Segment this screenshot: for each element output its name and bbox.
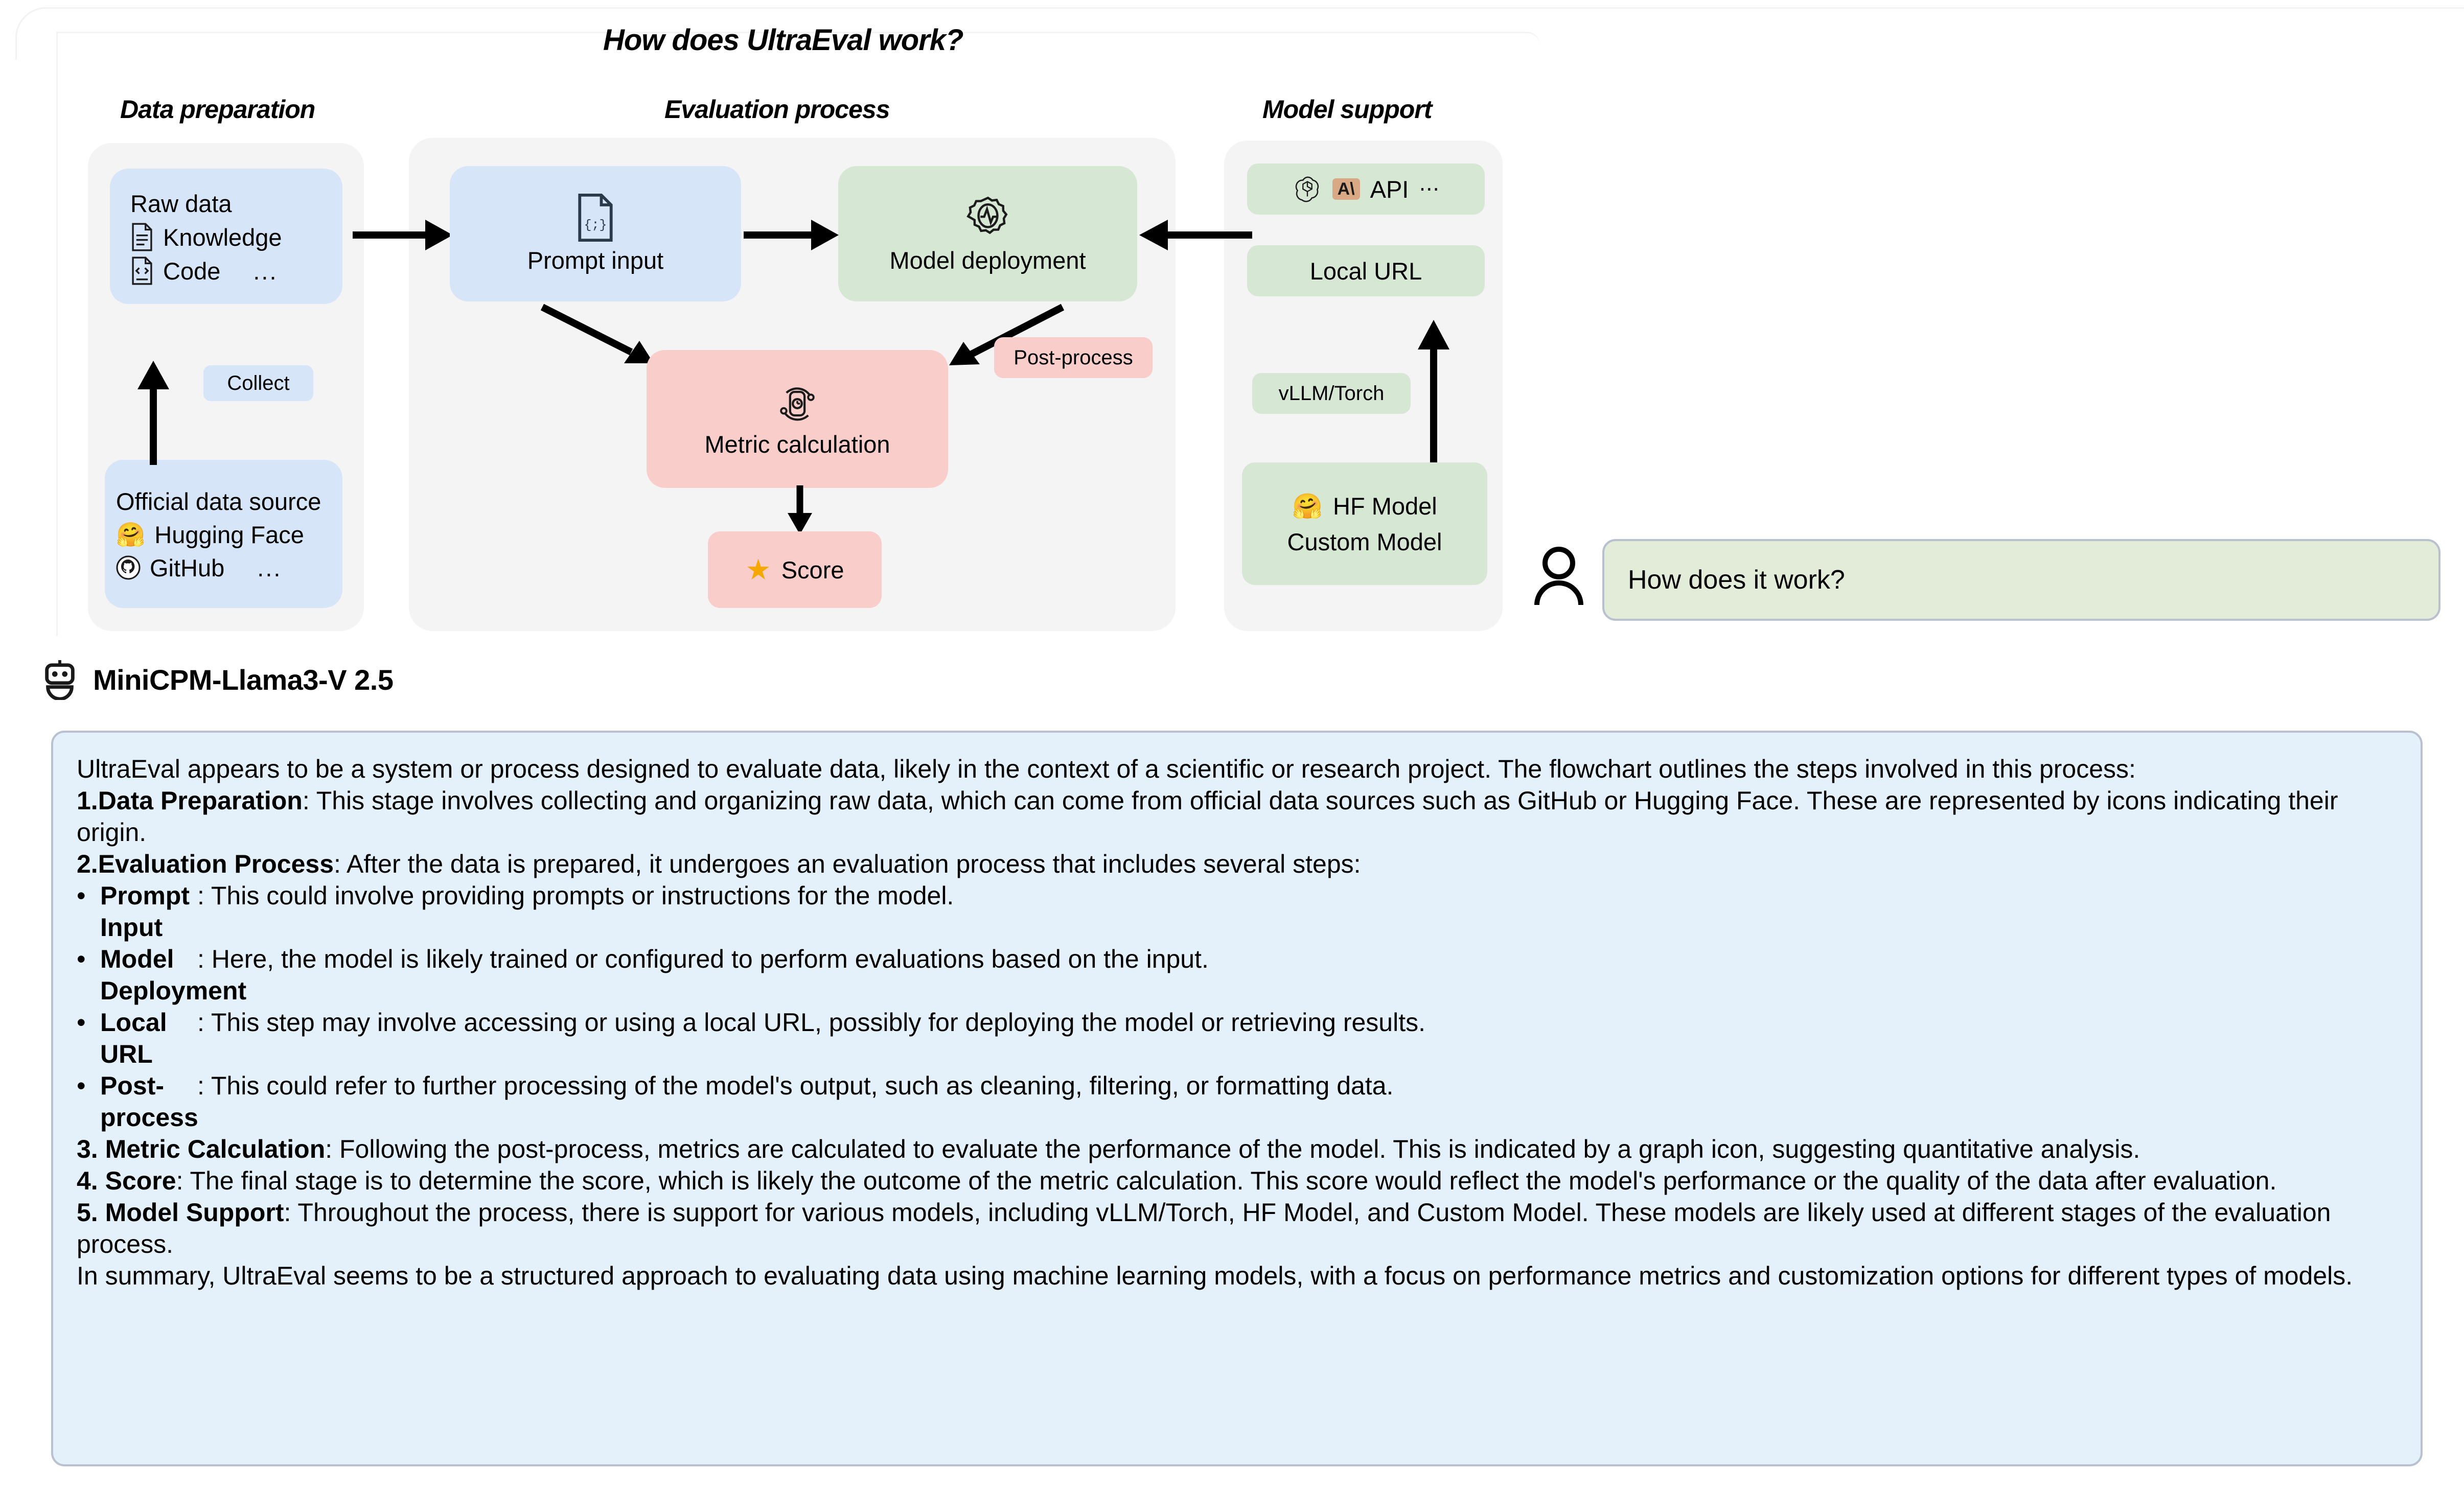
answer-bullet: •Prompt Input: This could involve provid… bbox=[77, 880, 2397, 943]
local-url-label: Local URL bbox=[1310, 257, 1422, 285]
section-label-model-support: Model support bbox=[1262, 95, 1432, 124]
edge-label-collect: Collect bbox=[203, 365, 313, 401]
hf-model-label: HF Model bbox=[1333, 492, 1437, 520]
node-hf-custom-model: 🤗 HF Model Custom Model bbox=[1242, 462, 1487, 585]
answer-section-5-head: 5. Model Support bbox=[77, 1198, 284, 1227]
answer-section-5: 5. Model Support: Throughout the process… bbox=[77, 1197, 2397, 1260]
node-prompt-input: {;} Prompt input bbox=[450, 166, 741, 301]
bullet-text: : This could refer to further processing… bbox=[197, 1070, 1393, 1133]
answer-bullet: •Post-process: This could refer to furth… bbox=[77, 1070, 2397, 1133]
node-api: A\ API ⋯ bbox=[1247, 163, 1485, 215]
node-local-url: Local URL bbox=[1247, 245, 1485, 296]
answer-section-4-body: : The final stage is to determine the sc… bbox=[176, 1166, 2277, 1195]
node-metric-calculation: Metric calculation bbox=[647, 350, 948, 488]
assistant-answer-box: UltraEval appears to be a system or proc… bbox=[51, 731, 2423, 1466]
arrow-models-up bbox=[1411, 317, 1457, 465]
json-document-icon: {;} bbox=[575, 193, 615, 242]
answer-summary: In summary, UltraEval seems to be a stru… bbox=[77, 1260, 2397, 1292]
model-deployment-label: Model deployment bbox=[889, 246, 1086, 274]
node-vllm-torch: vLLM/Torch bbox=[1252, 373, 1411, 414]
bullet-label: Post-process bbox=[100, 1070, 197, 1133]
document-icon bbox=[130, 223, 154, 251]
bullet-marker: • bbox=[77, 1007, 100, 1070]
bullet-marker: • bbox=[77, 1070, 100, 1133]
node-model-deployment: Model deployment bbox=[838, 166, 1137, 301]
node-post-process: Post-process bbox=[994, 337, 1153, 378]
answer-section-2-head: 2.Evaluation Process bbox=[77, 850, 334, 878]
raw-data-item-knowledge: Knowledge bbox=[130, 223, 342, 251]
node-official-data-source: Official data source 🤗 Hugging Face GitH… bbox=[105, 460, 342, 608]
vllm-torch-label: vLLM/Torch bbox=[1279, 382, 1385, 405]
bullet-label: Model Deployment bbox=[100, 943, 197, 1007]
svg-text:{;}: {;} bbox=[584, 218, 607, 232]
custom-model-label: Custom Model bbox=[1287, 528, 1442, 556]
score-label: Score bbox=[781, 556, 844, 584]
assistant-header: MiniCPM-Llama3-V 2.5 bbox=[40, 659, 393, 700]
bullet-text: : Here, the model is likely trained or c… bbox=[197, 943, 1209, 1007]
answer-bullet: •Local URL: This step may involve access… bbox=[77, 1007, 2397, 1070]
hugging-face-icon: 🤗 bbox=[116, 521, 145, 549]
section-label-data-preparation: Data preparation bbox=[120, 95, 315, 124]
anthropic-icon: A\ bbox=[1332, 178, 1360, 200]
arrow-metric-to-score bbox=[779, 485, 820, 536]
metric-calculation-label: Metric calculation bbox=[704, 430, 890, 458]
official-source-ellipsis: ... bbox=[257, 554, 282, 582]
node-score: ★ Score bbox=[708, 531, 882, 608]
answer-bullet: •Model Deployment: Here, the model is li… bbox=[77, 943, 2397, 1007]
raw-data-ellipsis: ... bbox=[253, 257, 278, 285]
collect-label: Collect bbox=[227, 372, 289, 395]
section-label-evaluation-process: Evaluation process bbox=[664, 95, 890, 124]
api-label: API bbox=[1370, 175, 1409, 203]
code-document-icon bbox=[130, 256, 154, 285]
gear-pulse-icon bbox=[963, 193, 1012, 242]
user-avatar bbox=[1531, 546, 1587, 607]
hugging-face-icon: 🤗 bbox=[1292, 492, 1323, 521]
raw-data-title: Raw data bbox=[130, 190, 342, 218]
bullet-label: Prompt Input bbox=[100, 880, 197, 943]
assistant-name: MiniCPM-Llama3-V 2.5 bbox=[93, 663, 393, 696]
post-process-label: Post-process bbox=[1014, 346, 1133, 369]
prompt-input-label: Prompt input bbox=[527, 246, 663, 274]
answer-section-2: 2.Evaluation Process: After the data is … bbox=[77, 848, 2397, 880]
api-ellipsis: ⋯ bbox=[1419, 177, 1439, 201]
official-source-title: Official data source bbox=[116, 487, 342, 516]
answer-section-1-head: 1.Data Preparation bbox=[77, 786, 303, 815]
bullet-label: Local URL bbox=[100, 1007, 197, 1070]
answer-section-2-body: : After the data is prepared, it undergo… bbox=[334, 850, 1361, 878]
arrow-modelsupport-to-deployment bbox=[1137, 215, 1252, 255]
answer-intro: UltraEval appears to be a system or proc… bbox=[77, 753, 2397, 785]
star-icon: ★ bbox=[746, 555, 771, 584]
robot-icon bbox=[40, 659, 80, 700]
score-row: ★ Score bbox=[708, 555, 882, 584]
official-source-item-github: GitHub ... bbox=[116, 554, 342, 582]
metric-orbit-icon bbox=[774, 380, 821, 427]
raw-data-item-code: Code ... bbox=[130, 256, 342, 285]
answer-section-3-head: 3. Metric Calculation bbox=[77, 1135, 325, 1163]
bullet-marker: • bbox=[77, 880, 100, 943]
figure-title: How does UltraEval work? bbox=[603, 23, 963, 57]
answer-section-1-body: : This stage involves collecting and org… bbox=[77, 786, 2338, 847]
bullet-text: : This could involve providing prompts o… bbox=[197, 880, 954, 943]
answer-section-1: 1.Data Preparation: This stage involves … bbox=[77, 785, 2397, 848]
answer-section-5-body: : Throughout the process, there is suppo… bbox=[77, 1198, 2331, 1258]
user-message-bubble: How does it work? bbox=[1602, 539, 2440, 621]
bullet-marker: • bbox=[77, 943, 100, 1007]
official-source-item-hugging-face: 🤗 Hugging Face bbox=[116, 521, 342, 549]
arrow-rawdata-to-prompt bbox=[353, 215, 455, 255]
official-source-label-github: GitHub bbox=[150, 554, 224, 582]
node-raw-data: Raw data Knowledge Code ... bbox=[110, 169, 342, 304]
hf-model-row: 🤗 HF Model bbox=[1292, 492, 1437, 521]
raw-data-label-knowledge: Knowledge bbox=[163, 223, 282, 251]
api-row: A\ API ⋯ bbox=[1293, 174, 1440, 204]
openai-icon bbox=[1293, 174, 1322, 204]
answer-section-3: 3. Metric Calculation: Following the pos… bbox=[77, 1133, 2397, 1165]
github-icon bbox=[116, 555, 141, 580]
answer-section-3-body: : Following the post-process, metrics ar… bbox=[325, 1135, 2140, 1163]
bullet-text: : This step may involve accessing or usi… bbox=[197, 1007, 1425, 1070]
official-source-label-hugging-face: Hugging Face bbox=[154, 521, 304, 549]
answer-section-4-head: 4. Score bbox=[77, 1166, 176, 1195]
arrow-collect-up bbox=[130, 358, 176, 465]
ultraeval-flowchart: How does UltraEval work? Data preparatio… bbox=[0, 0, 1533, 644]
arrow-prompt-to-deployment bbox=[744, 215, 841, 255]
user-message-text: How does it work? bbox=[1628, 565, 1845, 595]
raw-data-label-code: Code bbox=[163, 257, 220, 285]
answer-section-4: 4. Score: The final stage is to determin… bbox=[77, 1165, 2397, 1197]
